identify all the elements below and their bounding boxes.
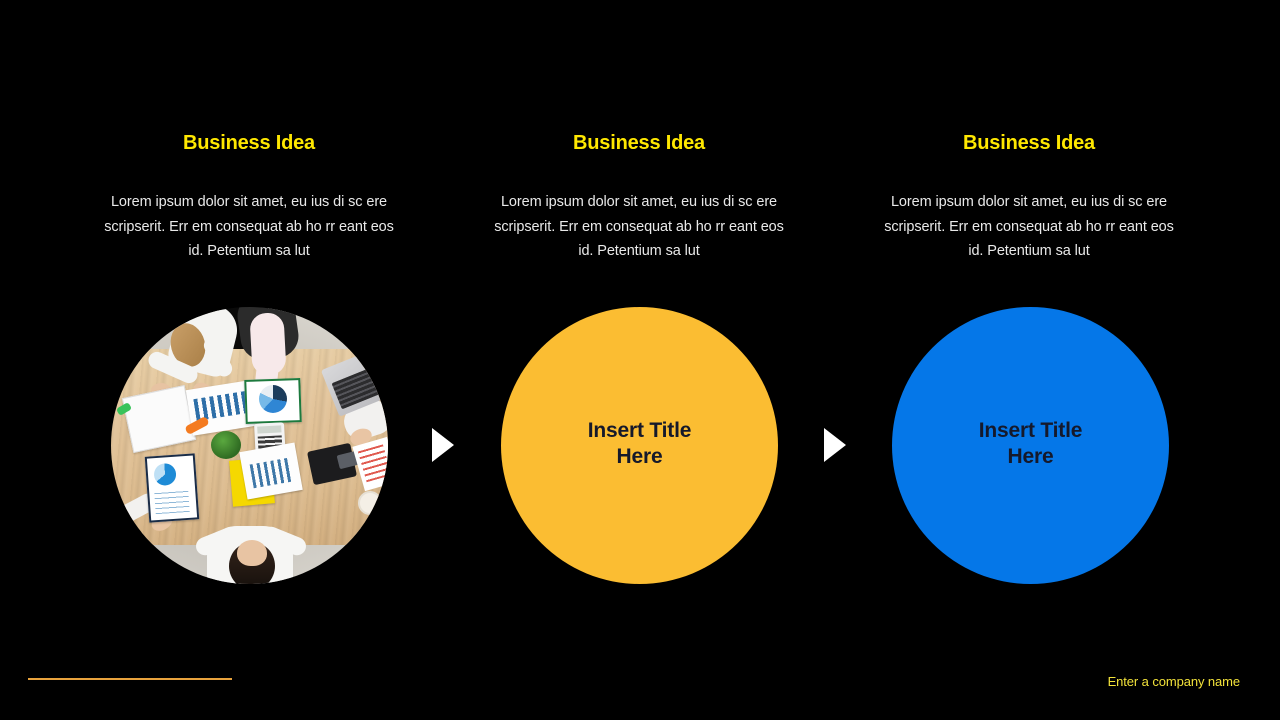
column-1-body: Lorem ipsum dolor sit amet, eu ius di sc…	[103, 156, 395, 264]
column-2-body: Lorem ipsum dolor sit amet, eu ius di sc…	[493, 156, 785, 264]
blue-circle[interactable]: Insert Title Here	[892, 307, 1169, 584]
columns-region: Business Idea Lorem ipsum dolor sit amet…	[0, 130, 1280, 264]
meeting-photo	[111, 307, 388, 584]
column-3-body: Lorem ipsum dolor sit amet, eu ius di sc…	[883, 156, 1175, 264]
column-3-heading: Business Idea	[883, 130, 1175, 156]
column-1: Business Idea Lorem ipsum dolor sit amet…	[103, 130, 395, 264]
column-2-heading: Business Idea	[493, 130, 785, 156]
footer-divider-rule	[28, 678, 232, 680]
yellow-circle-title: Insert Title Here	[588, 418, 691, 470]
slide-canvas: Business Idea Lorem ipsum dolor sit amet…	[0, 0, 1280, 720]
photo-circle[interactable]	[111, 307, 388, 584]
yellow-circle[interactable]: Insert Title Here	[501, 307, 778, 584]
column-1-heading: Business Idea	[103, 130, 395, 156]
play-triangle-icon-1	[432, 428, 454, 462]
column-2: Business Idea Lorem ipsum dolor sit amet…	[493, 130, 785, 264]
circles-region: Insert Title Here Insert Title Here	[0, 307, 1280, 584]
blue-circle-title: Insert Title Here	[979, 418, 1082, 470]
column-3: Business Idea Lorem ipsum dolor sit amet…	[883, 130, 1175, 264]
play-triangle-icon-2	[824, 428, 846, 462]
company-name-placeholder[interactable]: Enter a company name	[1108, 674, 1240, 690]
